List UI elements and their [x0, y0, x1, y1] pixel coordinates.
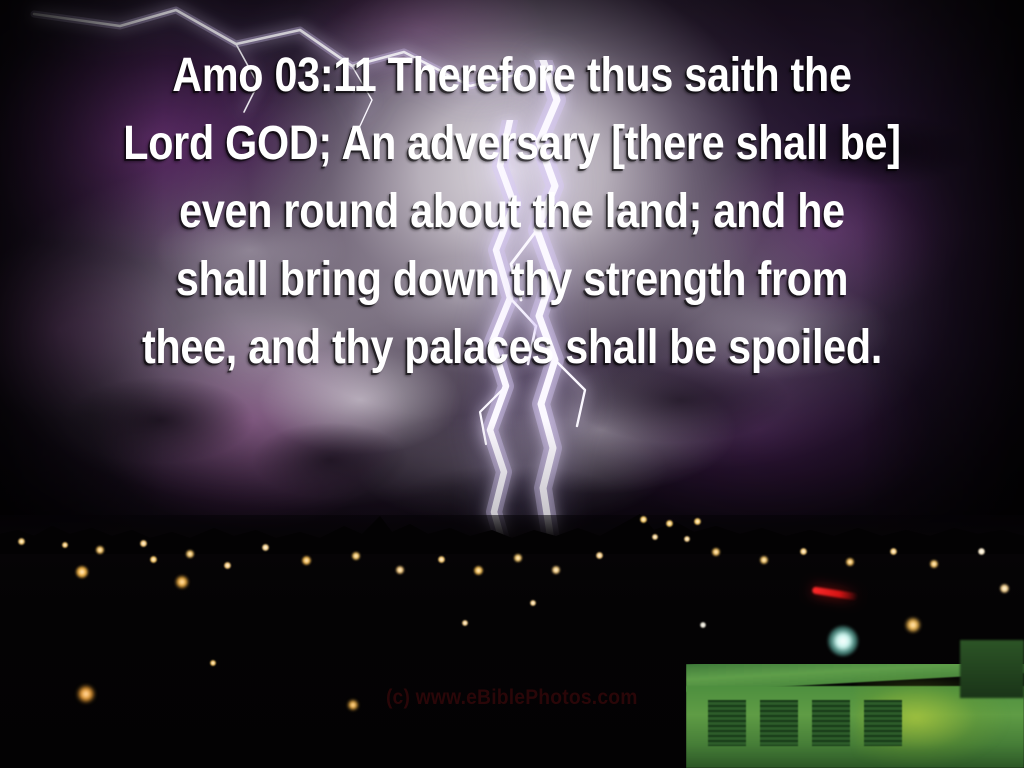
watermark-text: (c) www.eBiblePhotos.com: [386, 686, 638, 710]
treeline-silhouette: [0, 508, 1024, 554]
bible-verse-photo: Amo 03:11 Therefore thus saith the Lord …: [0, 0, 1024, 768]
verse-line-5: thee, and thy palaces shall be spoiled.: [72, 314, 953, 382]
verse-line-2: Lord GOD; An adversary [there shall be]: [72, 110, 953, 178]
building-floodlight: [828, 626, 858, 656]
verse-line-4: shall bring down thy strength from: [72, 246, 953, 314]
watermark: (c) www.eBiblePhotos.com: [0, 686, 1024, 710]
verse-line-3: even round about the land; and he: [72, 178, 953, 246]
verse-line-1: Amo 03:11 Therefore thus saith the: [72, 42, 953, 110]
verse-text-block: Amo 03:11 Therefore thus saith the Lord …: [0, 42, 1024, 382]
